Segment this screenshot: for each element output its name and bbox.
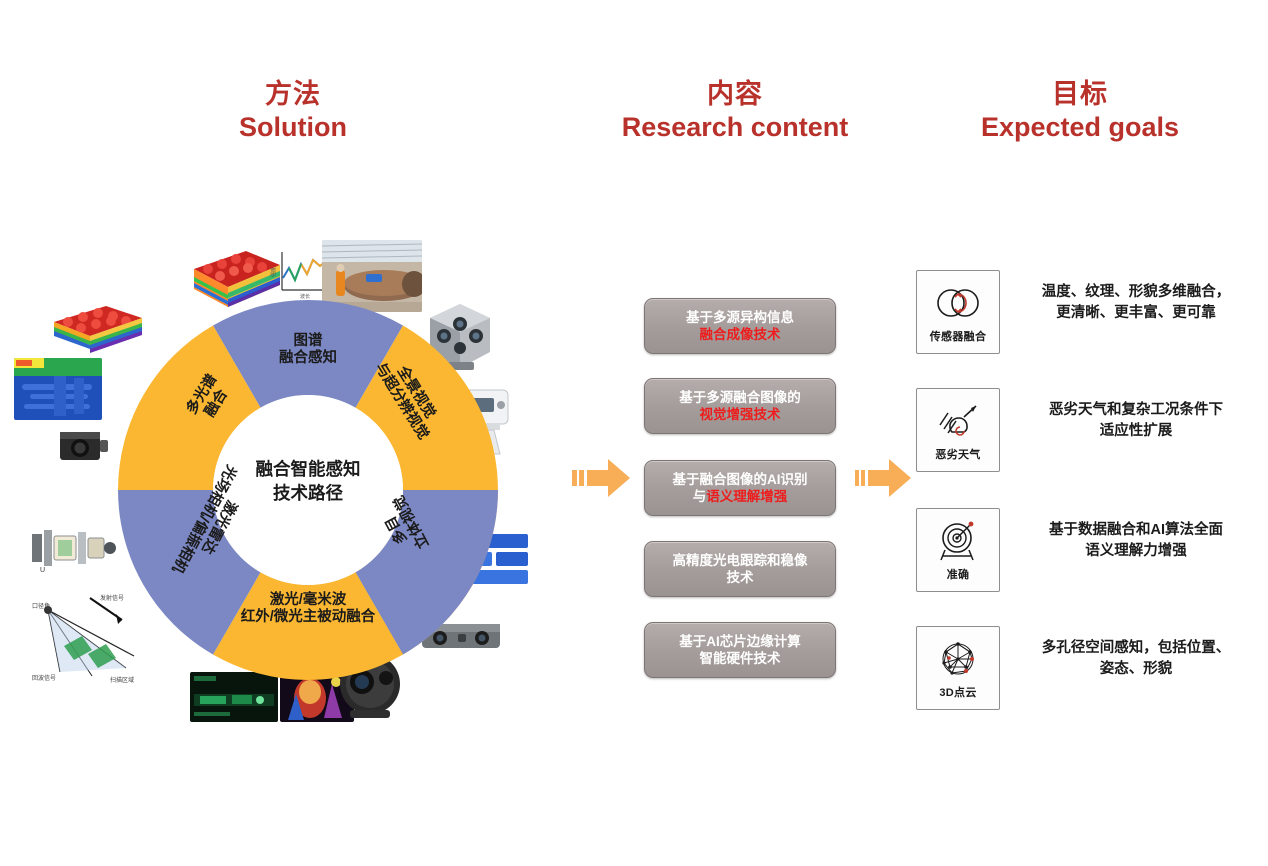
arrow-content-to-goals: [855, 455, 915, 506]
research-box-3-line2: 技术: [727, 570, 754, 585]
goal-row-1: 恶劣天气 恶劣天气和复杂工况条件下 适应性扩展: [916, 388, 1246, 472]
goal-row-3: 3D点云 多孔径空间感知，包括位置、 姿态、形貌: [916, 626, 1246, 710]
header-en-solution: Solution: [143, 111, 443, 144]
goal-text-1: 恶劣天气和复杂工况条件下 适应性扩展: [1026, 400, 1246, 441]
research-box-1-text: 基于多源融合图像的 视觉增强技术: [672, 389, 808, 424]
polarization-optics-thumb: U: [26, 520, 118, 576]
wheel-label-3: 激光/毫米波 红外/微光主被动融合: [213, 592, 403, 627]
svg-text:波长: 波长: [300, 293, 310, 300]
research-box-0-line2: 融合成像技术: [700, 327, 781, 342]
research-box-0-line1: 基于多源异构信息: [686, 310, 794, 325]
header-en-goals: Expected goals: [930, 111, 1230, 144]
goal-card-1-caption: 恶劣天气: [935, 446, 980, 462]
research-box-2[interactable]: 基于融合图像的AI识别 与语义理解增强: [644, 460, 836, 516]
wheel-center-label: 融合智能感知 技术路径: [193, 458, 423, 505]
goal-card-0[interactable]: 传感器融合: [916, 270, 1000, 354]
goal-card-0-caption: 传感器融合: [930, 328, 987, 344]
research-box-0[interactable]: 基于多源异构信息 融合成像技术: [644, 298, 836, 354]
thermal-image-thumb: [14, 358, 102, 420]
research-box-1-line2: 视觉增强技术: [700, 407, 781, 422]
research-box-4-text: 基于AI芯片边缘计算 智能硬件技术: [672, 633, 808, 668]
research-box-2-lead: 与: [693, 489, 707, 504]
research-box-3[interactable]: 高精度光电跟踪和稳像 技术: [644, 541, 836, 597]
goal-text-3: 多孔径空间感知，包括位置、 姿态、形貌: [1026, 638, 1246, 679]
goal-text-0: 温度、纹理、形貌多维融合， 更清晰、更丰富、更可靠: [1026, 282, 1246, 323]
svg-text:U: U: [40, 567, 45, 574]
research-box-3-text: 高精度光电跟踪和稳像 技术: [666, 552, 815, 587]
goal-row-2: 准确 基于数据融合和AI算法全面 语义理解力增强: [916, 508, 1246, 592]
svg-text:回波信号: 回波信号: [32, 674, 56, 682]
research-box-0-text: 基于多源异构信息 融合成像技术: [679, 309, 801, 344]
point-cloud-icon: [936, 636, 980, 682]
column-header-expected-goals: 目标 Expected goals: [930, 78, 1230, 144]
goal-card-3-caption: 3D点云: [939, 684, 976, 700]
column-header-solution: 方法 Solution: [143, 78, 443, 144]
research-box-1-line1: 基于多源融合图像的: [679, 390, 801, 405]
spectral-curve-thumb: 强度 波长: [270, 246, 330, 304]
goal-card-2[interactable]: 准确: [916, 508, 1000, 592]
goal-text-2: 基于数据融合和AI算法全面 语义理解力增强: [1026, 520, 1246, 561]
goal-card-2-caption: 准确: [947, 566, 970, 582]
research-box-2-line2: 语义理解增强: [706, 489, 787, 504]
sensor-fusion-icon: [932, 280, 984, 326]
diagram-canvas: 方法 Solution 内容 Research content 目标 Expec…: [0, 0, 1268, 866]
research-box-3-line1: 高精度光电跟踪和稳像: [673, 553, 808, 568]
industrial-camera-thumb: [56, 424, 112, 466]
research-box-2-line1: 基于融合图像的AI识别: [673, 472, 808, 487]
goal-row-0: 传感器融合 温度、纹理、形貌多维融合， 更清晰、更丰富、更可靠: [916, 270, 1246, 354]
column-header-research-content: 内容 Research content: [585, 78, 885, 144]
svg-text:强度: 强度: [270, 267, 277, 277]
goal-card-3[interactable]: 3D点云: [916, 626, 1000, 710]
research-box-4-line1: 基于AI芯片边缘计算: [679, 634, 801, 649]
header-en-content: Research content: [585, 111, 885, 144]
header-cn-solution: 方法: [143, 78, 443, 111]
svg-text:口径角: 口径角: [32, 602, 50, 610]
header-cn-goals: 目标: [930, 78, 1230, 111]
research-box-1[interactable]: 基于多源融合图像的 视觉增强技术: [644, 378, 836, 434]
target-icon: [935, 518, 981, 564]
research-box-2-text: 基于融合图像的AI识别 与语义理解增强: [666, 471, 815, 506]
research-box-4-line2: 智能硬件技术: [700, 651, 781, 666]
research-box-4[interactable]: 基于AI芯片边缘计算 智能硬件技术: [644, 622, 836, 678]
arrow-solution-to-content: [572, 455, 632, 506]
header-cn-content: 内容: [585, 78, 885, 111]
bad-weather-icon: [934, 398, 982, 444]
goal-card-1[interactable]: 恶劣天气: [916, 388, 1000, 472]
solution-wheel: 图谱 融合感知 全景视觉 与超分辨视觉 多目 立体视觉 激光/毫米波 红外/微光…: [118, 300, 498, 680]
